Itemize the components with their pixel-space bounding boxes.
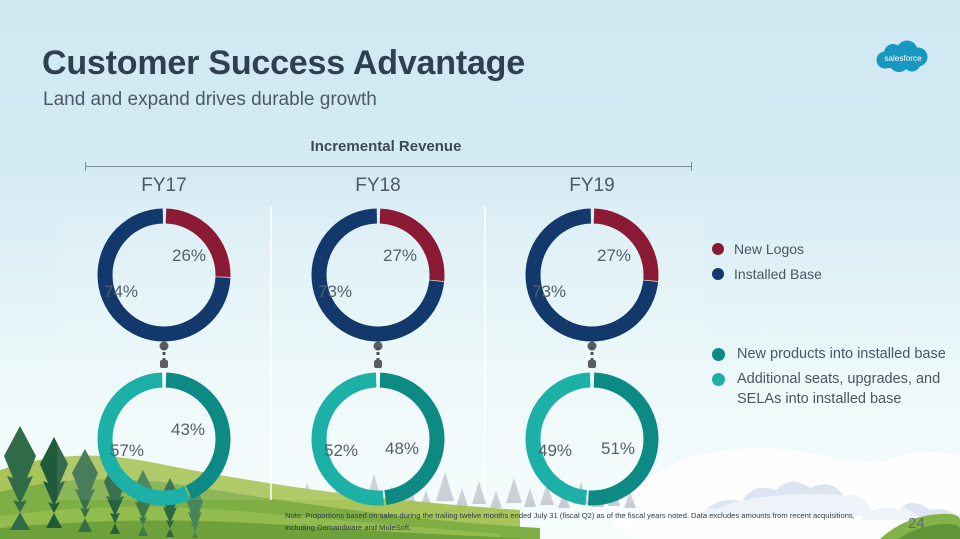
legend-bottom: New products into installed base Additio… xyxy=(712,345,960,409)
svg-text:salesforce: salesforce xyxy=(884,54,922,63)
pct-fy18-installed-base: 73% xyxy=(318,282,352,302)
donut-fy17-bottom: 43% 57% xyxy=(93,368,235,510)
year-column-fy17: FY17 26% 74% 43% 57% xyxy=(57,175,271,510)
incremental-revenue-label: Incremental Revenue xyxy=(0,138,772,155)
year-label-fy17: FY17 xyxy=(57,175,271,197)
legend-top: New Logos Installed Base xyxy=(712,240,952,283)
legend-label-installed-base: Installed Base xyxy=(734,265,822,284)
legend-swatch-new-logos xyxy=(712,243,724,255)
connector-dot-bottom xyxy=(160,360,168,368)
donut-fy19-top: 27% 73% xyxy=(521,204,663,346)
salesforce-logo: salesforce xyxy=(866,40,940,74)
legend-swatch-new-products xyxy=(712,348,725,361)
pct-fy18-new-products: 48% xyxy=(385,439,419,459)
pct-fy17-new-products: 43% xyxy=(171,420,205,440)
pct-fy19-additional-seats: 49% xyxy=(538,441,572,461)
page-title: Customer Success Advantage xyxy=(42,44,525,83)
footnote: Note: Proportions based on sales during … xyxy=(285,510,885,534)
donut-fy17-top: 26% 74% xyxy=(93,204,235,346)
pct-fy17-installed-base: 74% xyxy=(104,282,138,302)
connector-dot-bottom xyxy=(374,360,382,368)
slide-canvas: Customer Success Advantage Land and expa… xyxy=(0,0,960,539)
connector-fy17 xyxy=(93,346,235,368)
pct-fy17-additional-seats: 57% xyxy=(110,441,144,461)
incremental-revenue-bracket xyxy=(85,162,692,172)
legend-label-new-products: New products into installed base xyxy=(737,345,946,364)
legend-item-new-logos: New Logos xyxy=(712,240,952,259)
donut-fy18-top: 27% 73% xyxy=(307,204,449,346)
pct-fy17-new-logos: 26% xyxy=(172,246,206,266)
connector-fy19 xyxy=(521,346,663,368)
pct-fy19-new-products: 51% xyxy=(601,439,635,459)
pct-fy19-installed-base: 73% xyxy=(532,282,566,302)
pct-fy19-new-logos: 27% xyxy=(597,246,631,266)
legend-swatch-additional-seats xyxy=(712,373,725,386)
pct-fy18-additional-seats: 52% xyxy=(324,441,358,461)
connector-fy18 xyxy=(307,346,449,368)
legend-item-additional-seats: Additional seats, upgrades, and SELAs in… xyxy=(712,370,960,409)
legend-label-additional-seats: Additional seats, upgrades, and SELAs in… xyxy=(737,370,960,409)
page-number: 24 xyxy=(908,515,925,532)
year-column-fy18: FY18 27% 73% 48% 52% xyxy=(271,175,485,510)
year-label-fy18: FY18 xyxy=(271,175,485,197)
legend-swatch-installed-base xyxy=(712,268,724,280)
legend-item-installed-base: Installed Base xyxy=(712,265,952,284)
legend-item-new-products: New products into installed base xyxy=(712,345,960,364)
connector-dot-bottom xyxy=(588,360,596,368)
page-subtitle: Land and expand drives durable growth xyxy=(43,89,377,111)
pct-fy18-new-logos: 27% xyxy=(383,246,417,266)
year-column-fy19: FY19 27% 73% 51% 49% xyxy=(485,175,699,510)
donut-fy18-bottom: 48% 52% xyxy=(307,368,449,510)
legend-label-new-logos: New Logos xyxy=(734,240,804,259)
year-label-fy19: FY19 xyxy=(485,175,699,197)
donut-fy19-bottom: 51% 49% xyxy=(521,368,663,510)
